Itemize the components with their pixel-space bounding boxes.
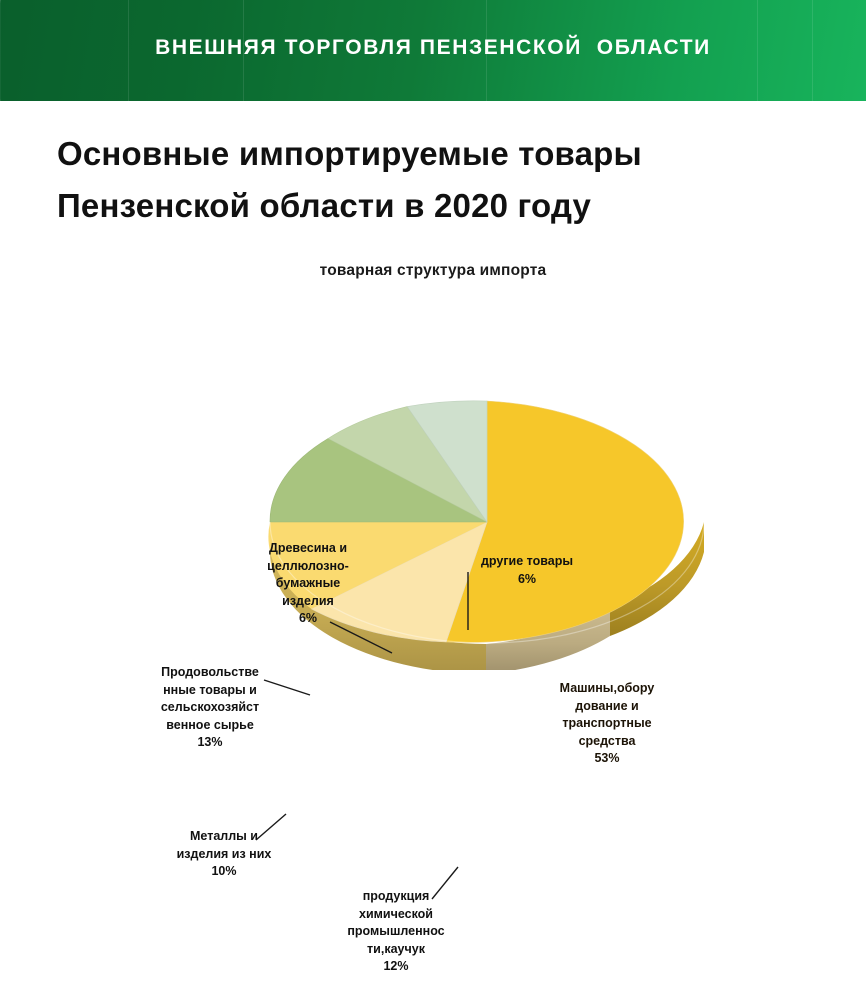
pie-label-machines: Машины,обору дование и транспортные сред… [532, 680, 682, 768]
pie-chart-figure: товарная структура импорта [0, 240, 866, 750]
pie-label-wood: Древесина и целлюлозно- бумажные изделия… [248, 540, 368, 628]
chart-title: товарная структура импорта [0, 262, 866, 280]
pie-label-other: другие товары 6% [462, 553, 592, 588]
pie-label-metals: Металлы и изделия из них 10% [154, 828, 294, 881]
pie-label-food: Продовольстве нные товары и сельскохозяй… [140, 664, 280, 752]
page-header-banner: ВНЕШНЯЯ ТОРГОВЛЯ ПЕНЗЕНСКОЙ ОБЛАСТИ [0, 0, 866, 101]
page-title: Основные импортируемые товары Пензенской… [57, 128, 797, 232]
banner-title: ВНЕШНЯЯ ТОРГОВЛЯ ПЕНЗЕНСКОЙ ОБЛАСТИ [0, 36, 866, 60]
pie-label-chemicals: продукция химической промышленнос ти,кау… [326, 888, 466, 976]
